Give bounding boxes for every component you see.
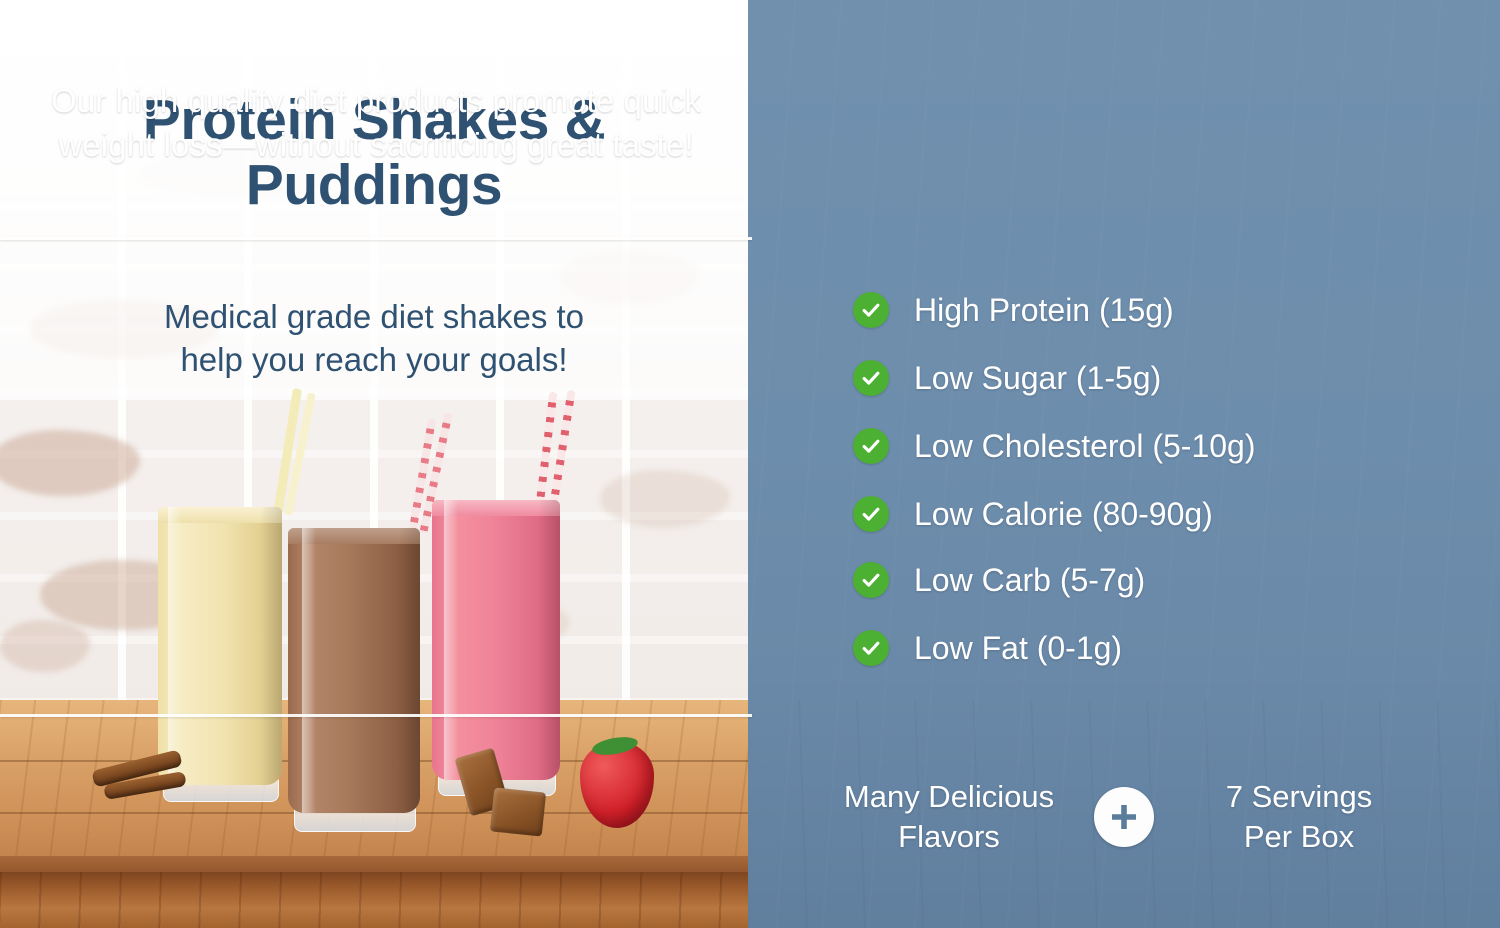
list-item: Low Fat (0-1g) — [853, 630, 1122, 666]
footer-right-line-1: 7 Servings — [1162, 777, 1436, 817]
check-circle-icon — [853, 360, 889, 396]
glass-shadow — [538, 500, 560, 780]
list-item-label: Low Carb (5-7g) — [914, 564, 1145, 596]
chocolate-shake-glass — [288, 528, 420, 813]
glass-highlight — [168, 507, 182, 785]
glass-highlight — [302, 528, 316, 813]
list-item: Low Cholesterol (5-10g) — [853, 428, 1256, 464]
list-item: Low Sugar (1-5g) — [853, 360, 1161, 396]
divider-bottom — [0, 714, 752, 717]
glass-shadow — [260, 507, 282, 785]
strawberry-shake-glass — [432, 500, 560, 780]
list-item: Low Carb (5-7g) — [853, 562, 1145, 598]
check-circle-icon — [853, 630, 889, 666]
footer-right-line-2: Per Box — [1162, 817, 1436, 857]
list-item: High Protein (15g) — [853, 292, 1174, 328]
chocolate-chunk — [490, 787, 546, 836]
table-front — [0, 872, 748, 928]
divider-top — [0, 237, 752, 240]
page-subtitle-line-2: help you reach your goals! — [44, 339, 704, 382]
footer-left-text: Many Delicious Flavors — [812, 777, 1086, 856]
list-item-label: Low Sugar (1-5g) — [914, 362, 1161, 394]
check-circle-icon — [853, 562, 889, 598]
vanilla-shake-glass — [158, 507, 282, 785]
footer-left-line-1: Many Delicious — [812, 777, 1086, 817]
check-circle-icon — [853, 428, 889, 464]
footer-row: Many Delicious Flavors 7 Servings Per Bo… — [748, 762, 1500, 872]
page-subtitle: Medical grade diet shakes to help you re… — [44, 296, 704, 382]
footer-right-text: 7 Servings Per Box — [1162, 777, 1436, 856]
list-item: Low Calorie (80-90g) — [853, 496, 1213, 532]
product-infographic: Protein Shakes & Puddings Medical grade … — [0, 0, 1500, 928]
list-item-label: Low Cholesterol (5-10g) — [914, 430, 1256, 462]
plus-icon — [1094, 787, 1154, 847]
glass-highlight — [444, 500, 458, 780]
list-item-label: Low Calorie (80-90g) — [914, 498, 1213, 530]
glass-shadow — [398, 528, 420, 813]
intro-text: Our high quality diet products promote q… — [28, 79, 724, 167]
check-circle-icon — [853, 292, 889, 328]
footer-left-line-2: Flavors — [812, 817, 1086, 857]
page-subtitle-line-1: Medical grade diet shakes to — [44, 296, 704, 339]
list-item-label: Low Fat (0-1g) — [914, 632, 1122, 664]
check-circle-icon — [853, 496, 889, 532]
list-item-label: High Protein (15g) — [914, 294, 1174, 326]
